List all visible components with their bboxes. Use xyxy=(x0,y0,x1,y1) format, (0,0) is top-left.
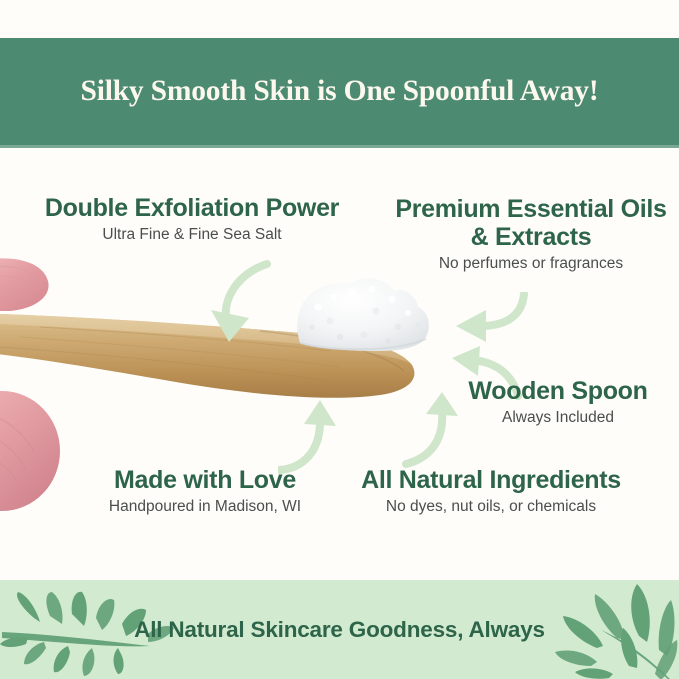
feature-subtitle: No dyes, nut oils, or chemicals xyxy=(336,497,646,517)
footer-banner: All Natural Skincare Goodness, Always xyxy=(0,580,679,679)
finger-lower xyxy=(0,391,60,511)
feature-double-exfoliation: Double Exfoliation Power Ultra Fine & Fi… xyxy=(16,194,368,245)
salt-scrub-mound xyxy=(297,278,429,351)
leaf-sprig-right-icon xyxy=(543,574,679,679)
feature-subtitle: Handpoured in Madison, WI xyxy=(74,497,336,517)
finger-upper xyxy=(0,258,49,311)
feature-all-natural-ingredients: All Natural Ingredients No dyes, nut oil… xyxy=(336,466,646,517)
feature-title: Premium Essential Oils & Extracts xyxy=(392,195,670,251)
product-infographic: Silky Smooth Skin is One Spoonful Away! xyxy=(0,0,679,679)
feature-subtitle: No perfumes or fragrances xyxy=(392,254,670,274)
header-banner: Silky Smooth Skin is One Spoonful Away! xyxy=(0,38,679,148)
arrow-to-scrub-right-upper xyxy=(448,292,530,347)
feature-premium-essential-oils: Premium Essential Oils & Extracts No per… xyxy=(392,195,670,274)
feature-made-with-love: Made with Love Handpoured in Madison, WI xyxy=(74,466,336,517)
feature-subtitle: Always Included xyxy=(440,408,676,428)
feature-title: Made with Love xyxy=(74,466,336,494)
feature-wooden-spoon: Wooden Spoon Always Included xyxy=(440,377,676,428)
feature-subtitle: Ultra Fine & Fine Sea Salt xyxy=(16,225,368,245)
feature-title: Wooden Spoon xyxy=(440,377,676,405)
feature-title: Double Exfoliation Power xyxy=(16,194,368,222)
header-title: Silky Smooth Skin is One Spoonful Away! xyxy=(81,75,599,108)
feature-title: All Natural Ingredients xyxy=(336,466,646,494)
footer-title: All Natural Skincare Goodness, Always xyxy=(134,617,545,643)
arrow-to-scrub-top-left xyxy=(207,258,293,353)
